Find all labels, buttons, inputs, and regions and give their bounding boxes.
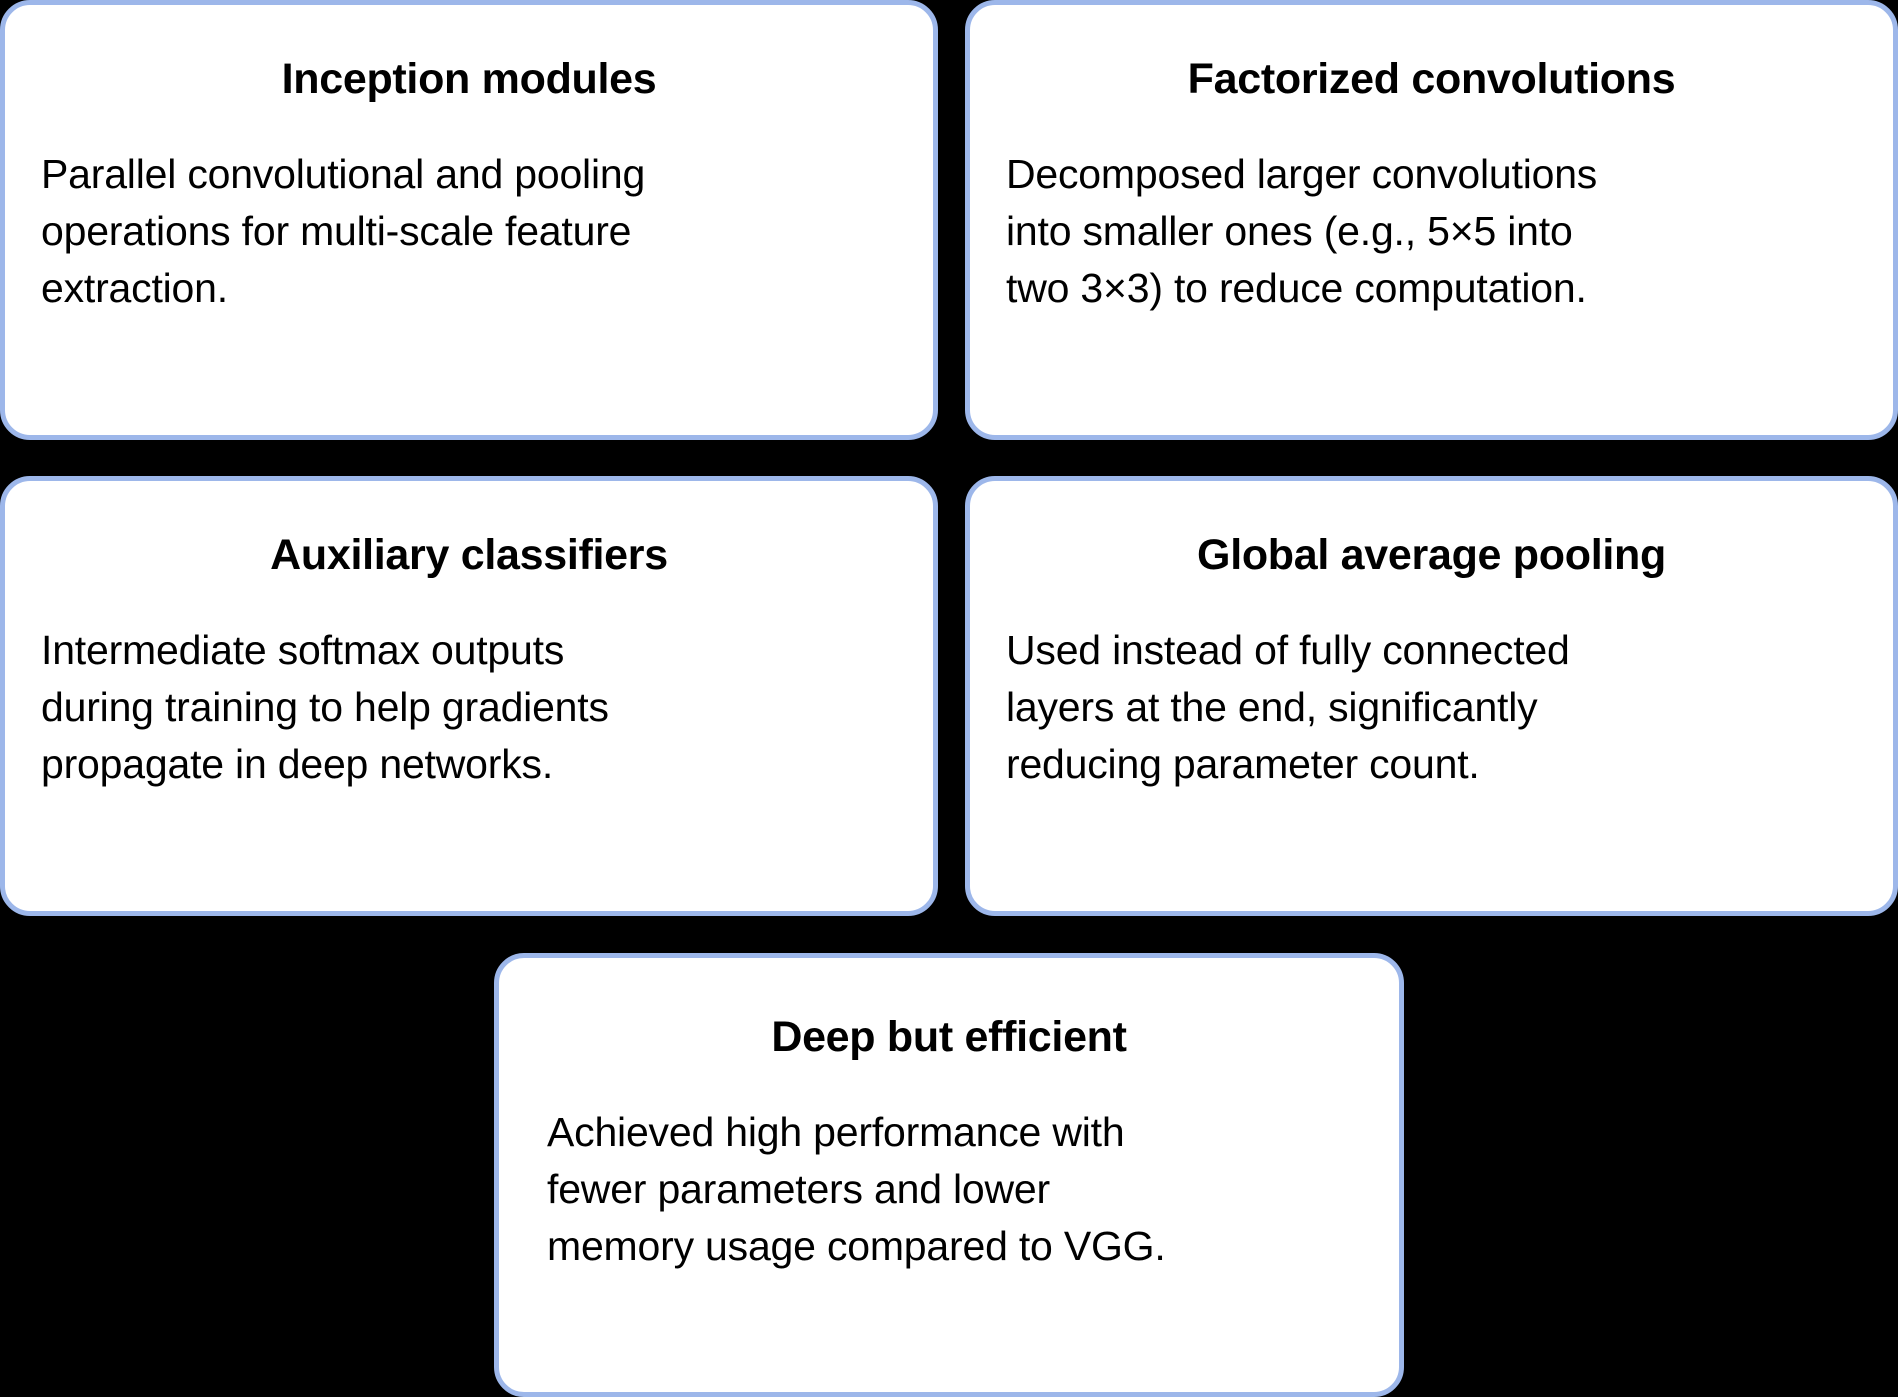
card-title: Deep but efficient xyxy=(499,1013,1399,1062)
card-title: Inception modules xyxy=(5,55,933,104)
diagram-canvas: Inception modules Parallel convolutional… xyxy=(0,0,1898,1397)
card-body: Achieved high performance with fewer par… xyxy=(499,1104,1399,1274)
card-title: Auxiliary classifiers xyxy=(5,531,933,580)
card-factorized-convolutions[interactable]: Factorized convolutions Decomposed large… xyxy=(965,0,1898,440)
card-auxiliary-classifiers[interactable]: Auxiliary classifiers Intermediate softm… xyxy=(0,476,938,916)
card-body: Intermediate softmax outputs during trai… xyxy=(5,622,933,792)
card-body: Parallel convolutional and pooling opera… xyxy=(5,146,933,316)
card-inception-modules[interactable]: Inception modules Parallel convolutional… xyxy=(0,0,938,440)
card-body: Used instead of fully connected layers a… xyxy=(970,622,1893,792)
card-title: Factorized convolutions xyxy=(970,55,1893,104)
card-global-average-pooling[interactable]: Global average pooling Used instead of f… xyxy=(965,476,1898,916)
card-deep-but-efficient[interactable]: Deep but efficient Achieved high perform… xyxy=(494,953,1404,1397)
card-body: Decomposed larger convolutions into smal… xyxy=(970,146,1893,316)
card-title: Global average pooling xyxy=(970,531,1893,580)
